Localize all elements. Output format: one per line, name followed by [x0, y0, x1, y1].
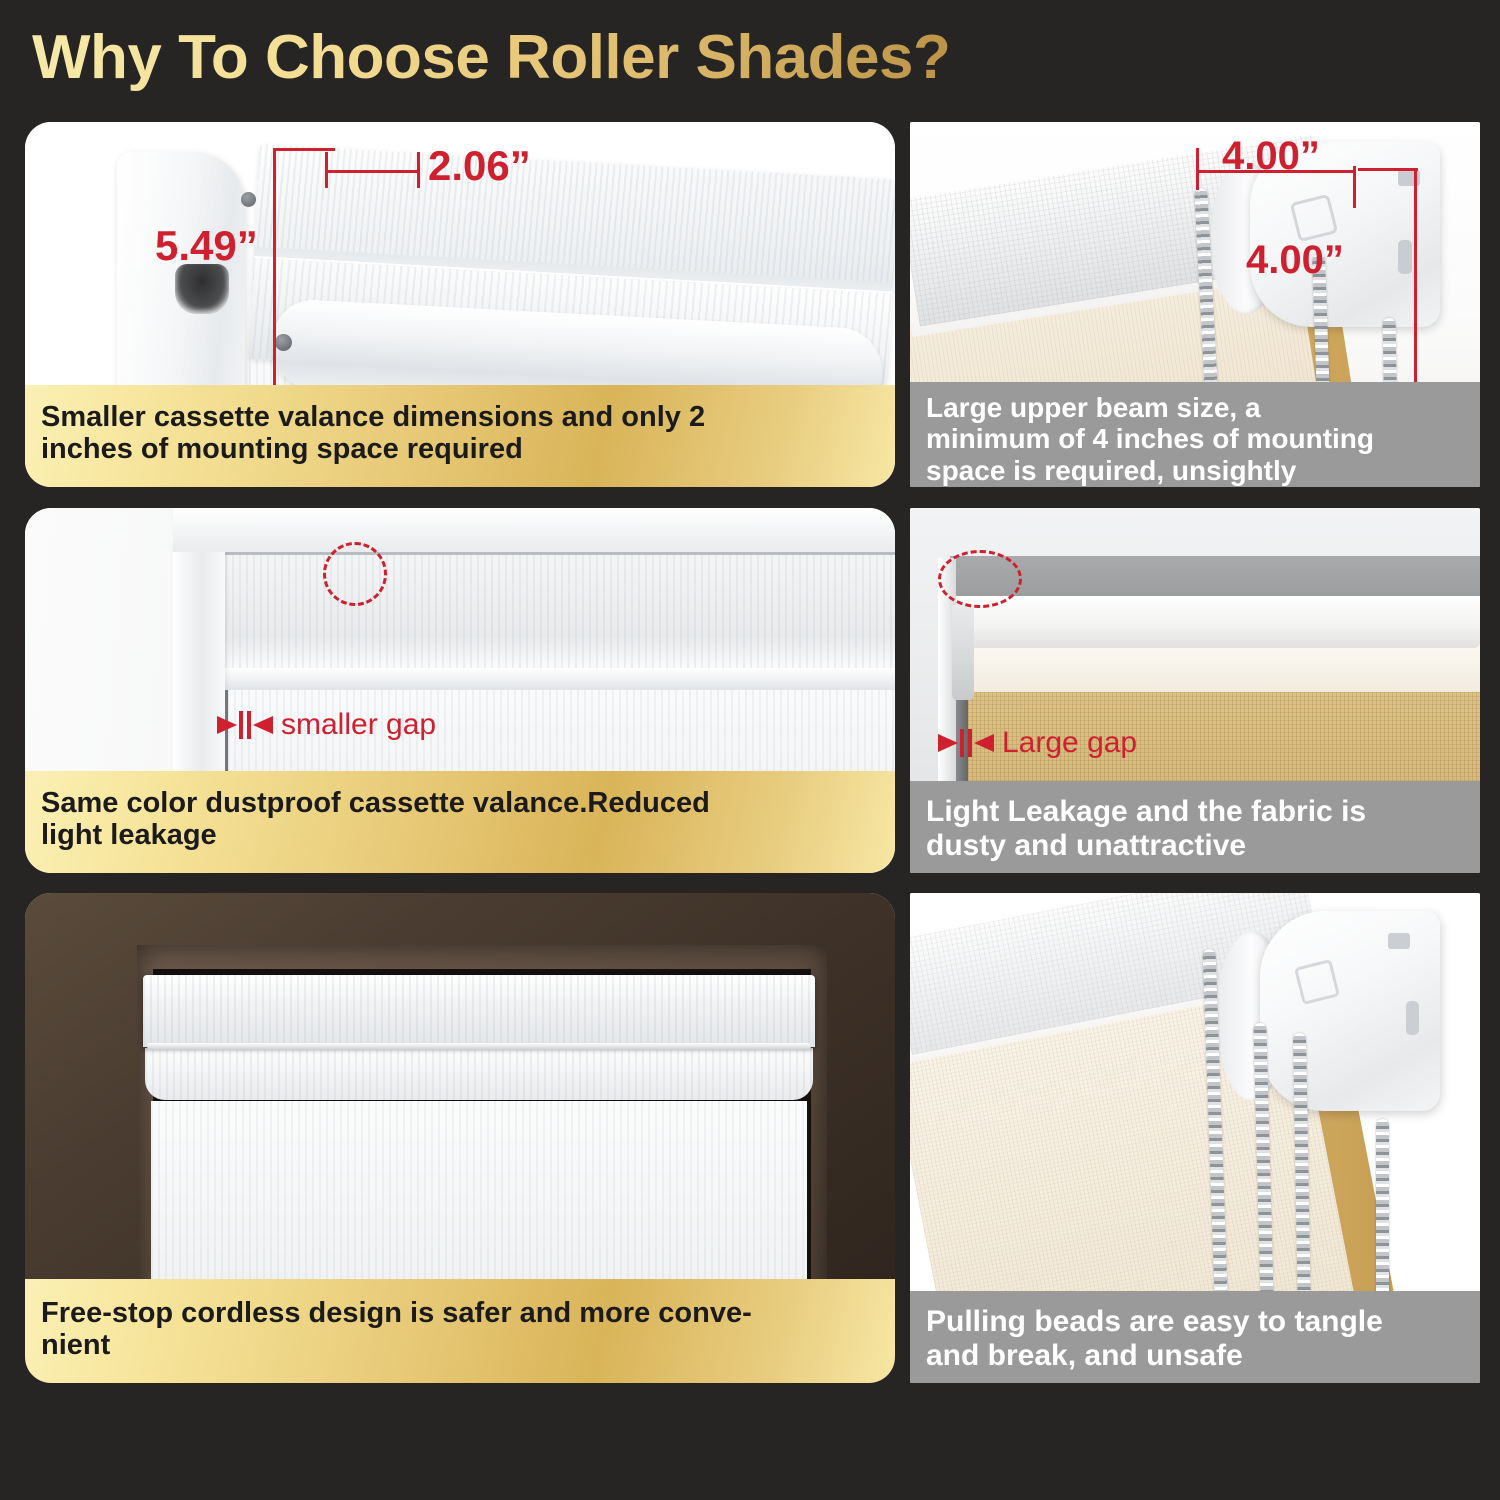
- gap-label: Large gap: [1002, 726, 1137, 760]
- mounting-bracket: [1260, 911, 1440, 1111]
- dimension-label-height: 4.00”: [1246, 238, 1344, 283]
- valance-lower-roll: [145, 1048, 813, 1100]
- panel-4-caption: Light Leakage and the fabric is dusty an…: [910, 781, 1480, 873]
- arrow-right-icon: [938, 734, 958, 752]
- large-gap-annotation: Large gap: [938, 726, 1137, 760]
- panel-5-caption: Free-stop cordless design is safer and m…: [25, 1279, 895, 1383]
- panel-2-caption: Large upper beam size, a minimum of 4 in…: [910, 382, 1480, 487]
- panel-large-upper-beam: 4.00” 4.00” Large upper beam size, a min…: [910, 122, 1480, 487]
- caption-line-2: light leakage: [41, 819, 879, 851]
- caption-line-1: Free-stop cordless design is safer and m…: [41, 1297, 879, 1329]
- arrow-right-icon: [217, 716, 237, 734]
- end-cap-slot: [175, 264, 229, 314]
- dimension-tick-right: [417, 152, 420, 188]
- dimension-tick-left: [325, 152, 328, 188]
- highlight-circle-icon: [323, 542, 387, 606]
- comparison-grid: 2.06” 5.49” Smaller cassette valance dim…: [0, 0, 1500, 1500]
- gap-marker-bar-2: [968, 729, 972, 757]
- upper-shadow-band: [950, 556, 1480, 600]
- panel-dustproof-valance: smaller gap Same color dustproof cassett…: [25, 508, 895, 873]
- end-clip: [952, 604, 974, 700]
- panel-pulling-beads: Pulling beads are easy to tangle and bre…: [910, 893, 1480, 1383]
- arrow-left-icon: [253, 716, 273, 734]
- gap-marker-bar: [239, 711, 243, 739]
- caption-line-2: inches of mounting space required: [41, 433, 879, 465]
- cassette-headrail: [143, 975, 815, 1047]
- panel-3-caption: Same color dustproof cassette valance.Re…: [25, 771, 895, 873]
- caption-line-2: dusty and unattractive: [926, 829, 1464, 863]
- bracket-arrow-icon: [1294, 959, 1340, 1005]
- upper-beam: [950, 596, 1480, 648]
- caption-line-2: and break, and unsafe: [926, 1339, 1464, 1373]
- panel-light-leakage: Large gap Light Leakage and the fabric i…: [910, 508, 1480, 873]
- panel-smaller-cassette: 2.06” 5.49” Smaller cassette valance dim…: [25, 122, 895, 487]
- bracket-notch-top: [1388, 933, 1410, 949]
- end-cap-screw-mid: [275, 334, 292, 351]
- dimension-label-height: 5.49”: [155, 222, 258, 270]
- headrail-seam: [147, 1043, 811, 1050]
- valance-lip: [225, 668, 895, 690]
- caption-line-1: Pulling beads are easy to tangle: [926, 1305, 1464, 1339]
- bracket-notch-side: [1398, 240, 1412, 274]
- dimension-tick-left: [1196, 148, 1199, 190]
- dimension-tick-top: [273, 148, 335, 151]
- gap-marker-bar: [960, 729, 964, 757]
- caption-line-2: nient: [41, 1329, 879, 1361]
- dimension-label-width: 2.06”: [428, 142, 531, 190]
- dimension-label-width: 4.00”: [1222, 134, 1320, 179]
- panel-6-caption: Pulling beads are easy to tangle and bre…: [910, 1291, 1480, 1383]
- bracket-arrow-icon: [1290, 194, 1338, 242]
- caption-line-3: space is required, unsightly: [926, 455, 1464, 486]
- gap-label: smaller gap: [281, 708, 436, 742]
- dimension-line-height: [1414, 168, 1417, 418]
- caption-line-2: minimum of 4 inches of mounting: [926, 423, 1464, 454]
- smaller-gap-annotation: smaller gap: [217, 708, 436, 742]
- panel-1-caption: Smaller cassette valance dimensions and …: [25, 385, 895, 487]
- panel-cordless-design: Free-stop cordless design is safer and m…: [25, 893, 895, 1383]
- caption-line-1: Light Leakage and the fabric is: [926, 795, 1464, 829]
- bracket-notch-side: [1406, 1001, 1419, 1035]
- caption-line-1: Same color dustproof cassette valance.Re…: [41, 787, 879, 819]
- end-cap-screw-top: [241, 192, 256, 207]
- dimension-tick-top: [1358, 168, 1418, 171]
- caption-line-1: Large upper beam size, a: [926, 392, 1464, 423]
- caption-line-1: Smaller cassette valance dimensions and …: [41, 401, 879, 433]
- window-frame-header: [173, 508, 895, 552]
- dimension-tick-right: [1353, 166, 1356, 208]
- arrow-left-icon: [974, 734, 994, 752]
- highlight-circle-icon: [938, 550, 1022, 608]
- gap-marker-bar-2: [247, 711, 251, 739]
- dimension-line-width: [325, 170, 420, 173]
